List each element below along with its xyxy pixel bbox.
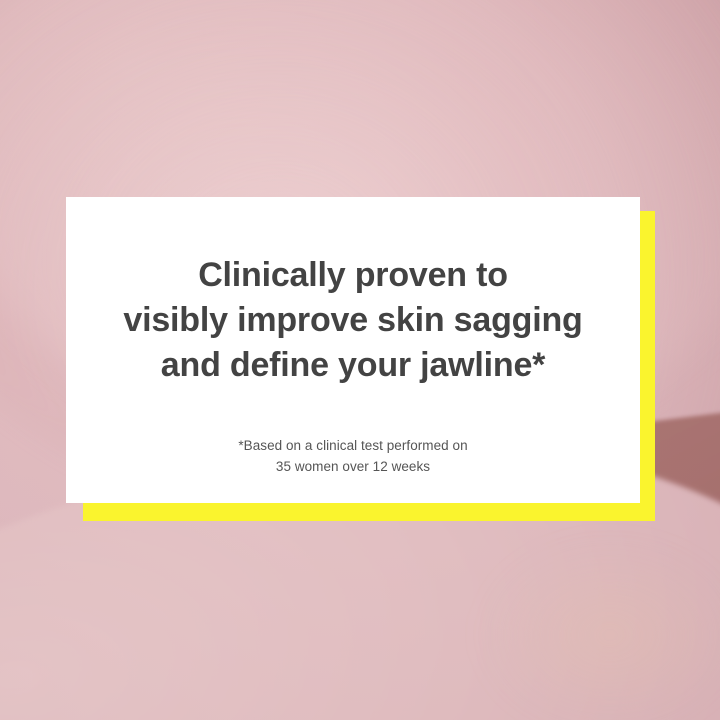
claim-heading: Clinically proven to visibly improve ski… xyxy=(96,253,610,388)
claim-footnote: *Based on a clinical test performed on 3… xyxy=(96,388,610,478)
background-warm-sheen xyxy=(430,505,720,720)
claim-card: Clinically proven to visibly improve ski… xyxy=(66,197,640,503)
promo-banner: Clinically proven to visibly improve ski… xyxy=(0,0,720,720)
